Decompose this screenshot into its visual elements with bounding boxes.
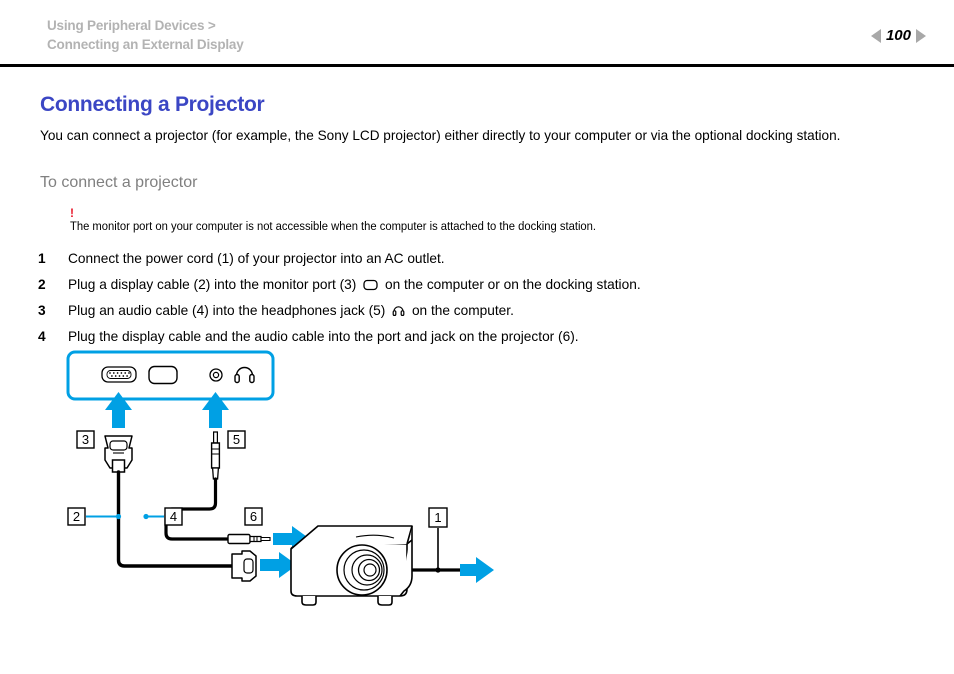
steps-list: 1 Connect the power cord (1) of your pro… — [38, 246, 928, 350]
step-text: Plug the display cable and the audio cab… — [68, 324, 579, 350]
triangle-right-icon[interactable] — [916, 29, 926, 43]
audio-cable-plug-computer — [212, 432, 220, 479]
callout-2: 2 — [68, 508, 121, 525]
step-number: 3 — [38, 298, 58, 324]
header-divider — [0, 64, 954, 67]
headphones-icon — [392, 300, 405, 326]
display-cable-plug — [105, 436, 132, 472]
callout-3: 3 — [77, 431, 94, 448]
step-item: 2 Plug a display cable (2) into the moni… — [38, 272, 928, 298]
callout-4-label: 4 — [170, 509, 177, 524]
step-text-before: Plug an audio cable (4) into the headpho… — [68, 303, 385, 318]
computer-port-panel — [68, 352, 273, 399]
breadcrumb-line-1: Using Peripheral Devices > — [47, 16, 244, 35]
step-number: 4 — [38, 324, 58, 350]
step-item: 4 Plug the display cable and the audio c… — [38, 324, 928, 350]
step-item: 1 Connect the power cord (1) of your pro… — [38, 246, 928, 272]
callout-2-label: 2 — [73, 509, 80, 524]
power-cord: 1 — [412, 508, 462, 573]
note-block: ! The monitor port on your computer is n… — [70, 208, 920, 233]
step-text: Plug an audio cable (4) into the headpho… — [68, 298, 514, 326]
diagram-svg: 3 5 — [60, 348, 500, 608]
callout-6-label: 6 — [250, 509, 257, 524]
callout-4: 4 — [143, 508, 182, 525]
monitor-port-icon — [149, 367, 177, 384]
intro-paragraph: You can connect a projector (for example… — [40, 126, 918, 145]
page-number: 100 — [886, 27, 911, 44]
monitor-port-icon — [363, 274, 378, 300]
breadcrumb-line-2: Connecting an External Display — [47, 35, 244, 54]
step-text: Plug a display cable (2) into the monito… — [68, 272, 641, 300]
step-number: 1 — [38, 246, 58, 272]
step-text-before: Plug a display cable (2) into the monito… — [68, 277, 356, 292]
step-text-after: on the computer. — [412, 303, 514, 318]
note-text: The monitor port on your computer is not… — [70, 219, 852, 233]
pager: 100 — [871, 27, 926, 44]
projector-connection-diagram: 3 5 — [60, 348, 500, 608]
warning-exclamation-icon: ! — [70, 208, 920, 219]
callout-1-label: 1 — [434, 510, 441, 525]
callout-5-label: 5 — [233, 432, 240, 447]
audio-cable-plug-projector — [228, 535, 270, 544]
page-header: Using Peripheral Devices > Connecting an… — [0, 0, 954, 68]
step-item: 3 Plug an audio cable (4) into the headp… — [38, 298, 928, 324]
power-cord-arrow — [460, 557, 494, 583]
breadcrumb: Using Peripheral Devices > Connecting an… — [47, 16, 244, 54]
callout-5: 5 — [228, 431, 245, 448]
step-number: 2 — [38, 272, 58, 298]
page-title: Connecting a Projector — [40, 93, 264, 117]
projector-illustration — [291, 526, 412, 605]
step-text: Connect the power cord (1) of your proje… — [68, 246, 445, 272]
step-text-after: on the computer or on the docking statio… — [385, 277, 641, 292]
section-subheading: To connect a projector — [40, 174, 197, 192]
callout-6: 6 — [245, 508, 262, 525]
display-cable-plug-projector — [232, 551, 256, 581]
headphone-jack-icon — [210, 369, 222, 381]
vga-port-icon — [102, 367, 136, 382]
callout-3-label: 3 — [82, 432, 89, 447]
triangle-left-icon[interactable] — [871, 29, 881, 43]
